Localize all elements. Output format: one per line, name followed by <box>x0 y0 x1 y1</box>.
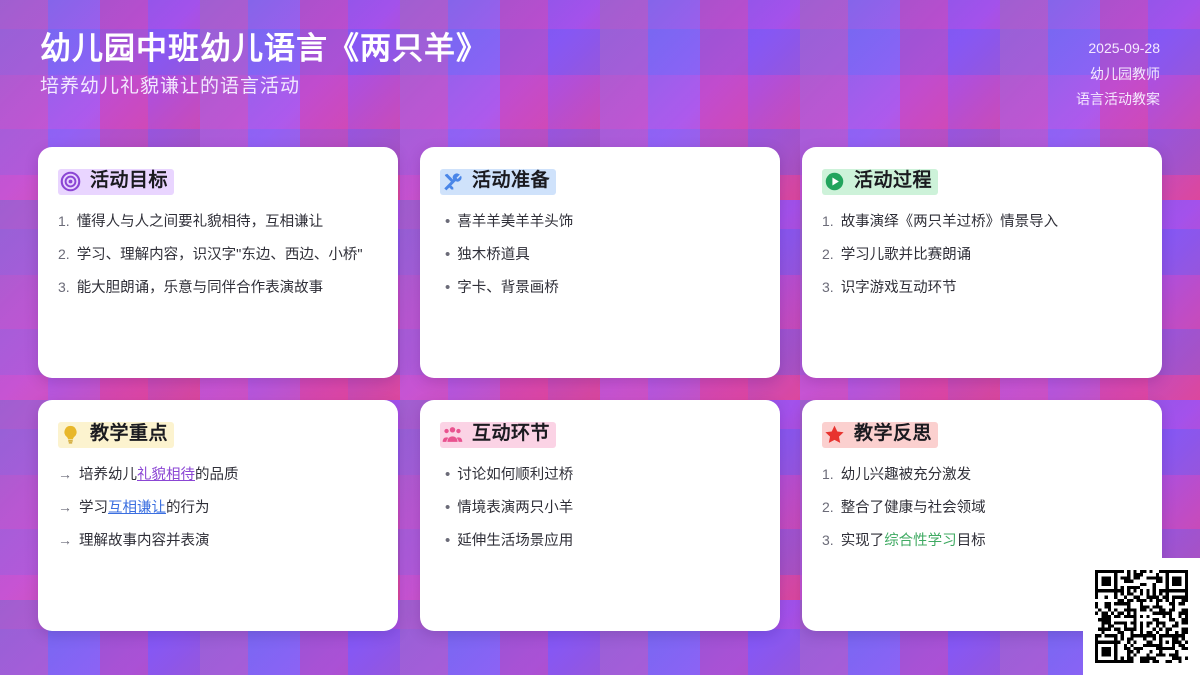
card-header: 教学反思 <box>822 422 938 448</box>
list-item-text: 懂得人与人之间要礼貌相待，互相谦让 <box>77 212 324 233</box>
list-item-text: 喜羊羊美羊羊头饰 <box>457 212 573 233</box>
text-segment: 延伸生活场景应用 <box>457 533 573 549</box>
list-item-text: 讨论如何顺利过桥 <box>457 465 573 486</box>
people-icon <box>442 424 463 445</box>
card-title: 互动环节 <box>472 423 550 446</box>
text-segment: 整合了健康与社会领域 <box>841 500 986 516</box>
list-item-marker: • <box>440 530 450 552</box>
list-item: •讨论如何顺利过桥 <box>440 464 760 486</box>
list-item: 1.懂得人与人之间要礼貌相待，互相谦让 <box>58 211 378 233</box>
card-header: 教学重点 <box>58 422 174 448</box>
text-segment: 实现了 <box>841 533 885 549</box>
page-subtitle: 培养幼儿礼貌谦让的语言活动 <box>40 75 488 100</box>
list-item-text: 故事演绎《两只羊过桥》情景导入 <box>841 212 1059 233</box>
text-segment: 故事演绎《两只羊过桥》情景导入 <box>841 214 1059 230</box>
card-header: 活动目标 <box>58 169 174 195</box>
meta-date: 2025-09-28 <box>1088 38 1160 60</box>
text-segment: 独木桥道具 <box>457 247 530 263</box>
list-item-marker: → <box>58 464 72 484</box>
target-icon <box>60 171 81 192</box>
page-header: 幼儿园中班幼儿语言《两只羊》 培养幼儿礼貌谦让的语言活动 2025-09-28 … <box>0 0 1200 132</box>
list-item-marker: 1. <box>822 211 834 231</box>
list-item-marker: 3. <box>822 277 834 297</box>
header-meta-block: 2025-09-28 幼儿园教师 语言活动教案 <box>1076 30 1160 111</box>
list-item-marker: 3. <box>58 277 70 297</box>
list-item-text: 能大胆朗诵，乐意与同伴合作表演故事 <box>77 278 324 299</box>
list-item: 3.能大胆朗诵，乐意与同伴合作表演故事 <box>58 277 378 299</box>
list-item-text: 实现了综合性学习目标 <box>841 531 986 552</box>
qr-code-icon <box>1095 570 1188 663</box>
text-segment: 学习、理解内容，识汉字"东边、西边、小桥" <box>77 247 363 263</box>
list-item: 2.整合了健康与社会领域 <box>822 497 1142 519</box>
list-item-text: 理解故事内容并表演 <box>79 531 210 552</box>
highlighted-term: 综合性学习 <box>884 533 957 549</box>
list-item-marker: • <box>440 464 450 486</box>
list-item: →理解故事内容并表演 <box>58 530 378 552</box>
list-item: 3.识字游戏互动环节 <box>822 277 1142 299</box>
text-segment: 的品质 <box>195 467 239 483</box>
text-segment: 目标 <box>957 533 986 549</box>
list-item-marker: • <box>440 211 450 233</box>
card-item-list: 1.故事演绎《两只羊过桥》情景导入2.学习儿歌并比赛朗诵3.识字游戏互动环节 <box>822 211 1142 299</box>
list-item-text: 字卡、背景画桥 <box>457 278 559 299</box>
header-title-block: 幼儿园中班幼儿语言《两只羊》 培养幼儿礼貌谦让的语言活动 <box>40 30 488 99</box>
text-segment: 讨论如何顺利过桥 <box>457 467 573 483</box>
card-activity-goals: 活动目标1.懂得人与人之间要礼貌相待，互相谦让2.学习、理解内容，识汉字"东边、… <box>38 147 398 378</box>
list-item: →学习互相谦让的行为 <box>58 497 378 519</box>
list-item-text: 情境表演两只小羊 <box>457 498 573 519</box>
text-segment: 理解故事内容并表演 <box>79 533 210 549</box>
list-item-text: 学习互相谦让的行为 <box>79 498 210 519</box>
text-segment: 培养幼儿 <box>79 467 137 483</box>
card-interaction-section: 互动环节•讨论如何顺利过桥•情境表演两只小羊•延伸生活场景应用 <box>420 400 780 631</box>
list-item-text: 独木桥道具 <box>457 245 530 266</box>
card-header: 互动环节 <box>440 422 556 448</box>
card-item-list: •喜羊羊美羊羊头饰•独木桥道具•字卡、背景画桥 <box>440 211 760 299</box>
list-item-text: 识字游戏互动环节 <box>841 278 957 299</box>
text-segment: 喜羊羊美羊羊头饰 <box>457 214 573 230</box>
list-item-marker: → <box>58 530 72 550</box>
card-item-list: →培养幼儿礼貌相待的品质→学习互相谦让的行为→理解故事内容并表演 <box>58 464 378 552</box>
list-item-marker: 2. <box>58 244 70 264</box>
card-title: 活动准备 <box>472 170 550 193</box>
text-segment: 学习儿歌并比赛朗诵 <box>841 247 972 263</box>
list-item-marker: 2. <box>822 244 834 264</box>
card-title: 活动目标 <box>90 170 168 193</box>
card-activity-preparation: 活动准备•喜羊羊美羊羊头饰•独木桥道具•字卡、背景画桥 <box>420 147 780 378</box>
list-item-marker: 1. <box>822 464 834 484</box>
card-header: 活动准备 <box>440 169 556 195</box>
card-item-list: 1.幼儿兴趣被充分激发2.整合了健康与社会领域3.实现了综合性学习目标 <box>822 464 1142 552</box>
list-item-text: 学习儿歌并比赛朗诵 <box>841 245 972 266</box>
meta-category: 语言活动教案 <box>1076 89 1160 111</box>
card-header: 活动过程 <box>822 169 938 195</box>
list-item: •字卡、背景画桥 <box>440 277 760 299</box>
list-item: 1.幼儿兴趣被充分激发 <box>822 464 1142 486</box>
list-item-marker: • <box>440 244 450 266</box>
text-segment: 能大胆朗诵，乐意与同伴合作表演故事 <box>77 280 324 296</box>
text-segment: 懂得人与人之间要礼貌相待，互相谦让 <box>77 214 324 230</box>
list-item-marker: 2. <box>822 497 834 517</box>
list-item: •延伸生活场景应用 <box>440 530 760 552</box>
page-title: 幼儿园中班幼儿语言《两只羊》 <box>40 30 488 69</box>
tools-icon <box>442 171 463 192</box>
list-item-marker: 3. <box>822 530 834 550</box>
text-segment: 识字游戏互动环节 <box>841 280 957 296</box>
card-teaching-focus: 教学重点→培养幼儿礼貌相待的品质→学习互相谦让的行为→理解故事内容并表演 <box>38 400 398 631</box>
list-item-text: 延伸生活场景应用 <box>457 531 573 552</box>
card-title: 教学反思 <box>854 423 932 446</box>
list-item-marker: • <box>440 277 450 299</box>
card-activity-process: 活动过程1.故事演绎《两只羊过桥》情景导入2.学习儿歌并比赛朗诵3.识字游戏互动… <box>802 147 1162 378</box>
list-item: •喜羊羊美羊羊头饰 <box>440 211 760 233</box>
text-segment: 学习 <box>79 500 108 516</box>
meta-author: 幼儿园教师 <box>1090 64 1160 86</box>
list-item-text: 培养幼儿礼貌相待的品质 <box>79 465 239 486</box>
card-title: 教学重点 <box>90 423 168 446</box>
text-segment: 的行为 <box>166 500 210 516</box>
list-item: →培养幼儿礼貌相待的品质 <box>58 464 378 486</box>
list-item: •独木桥道具 <box>440 244 760 266</box>
highlighted-term: 互相谦让 <box>108 500 166 516</box>
card-item-list: •讨论如何顺利过桥•情境表演两只小羊•延伸生活场景应用 <box>440 464 760 552</box>
qr-code-container <box>1083 558 1200 675</box>
card-grid: 活动目标1.懂得人与人之间要礼貌相待，互相谦让2.学习、理解内容，识汉字"东边、… <box>38 147 1162 635</box>
list-item: 3.实现了综合性学习目标 <box>822 530 1142 552</box>
list-item-text: 学习、理解内容，识汉字"东边、西边、小桥" <box>77 245 363 266</box>
text-segment: 情境表演两只小羊 <box>457 500 573 516</box>
list-item-text: 整合了健康与社会领域 <box>841 498 986 519</box>
card-item-list: 1.懂得人与人之间要礼貌相待，互相谦让2.学习、理解内容，识汉字"东边、西边、小… <box>58 211 378 299</box>
play-icon <box>824 171 845 192</box>
list-item: •情境表演两只小羊 <box>440 497 760 519</box>
lightbulb-icon <box>60 424 81 445</box>
list-item: 2.学习儿歌并比赛朗诵 <box>822 244 1142 266</box>
card-title: 活动过程 <box>854 170 932 193</box>
list-item: 1.故事演绎《两只羊过桥》情景导入 <box>822 211 1142 233</box>
list-item-marker: → <box>58 497 72 517</box>
list-item: 2.学习、理解内容，识汉字"东边、西边、小桥" <box>58 244 378 266</box>
list-item-text: 幼儿兴趣被充分激发 <box>841 465 972 486</box>
text-segment: 幼儿兴趣被充分激发 <box>841 467 972 483</box>
list-item-marker: 1. <box>58 211 70 231</box>
highlighted-term: 礼貌相待 <box>137 467 195 483</box>
list-item-marker: • <box>440 497 450 519</box>
star-icon <box>824 424 845 445</box>
text-segment: 字卡、背景画桥 <box>457 280 559 296</box>
